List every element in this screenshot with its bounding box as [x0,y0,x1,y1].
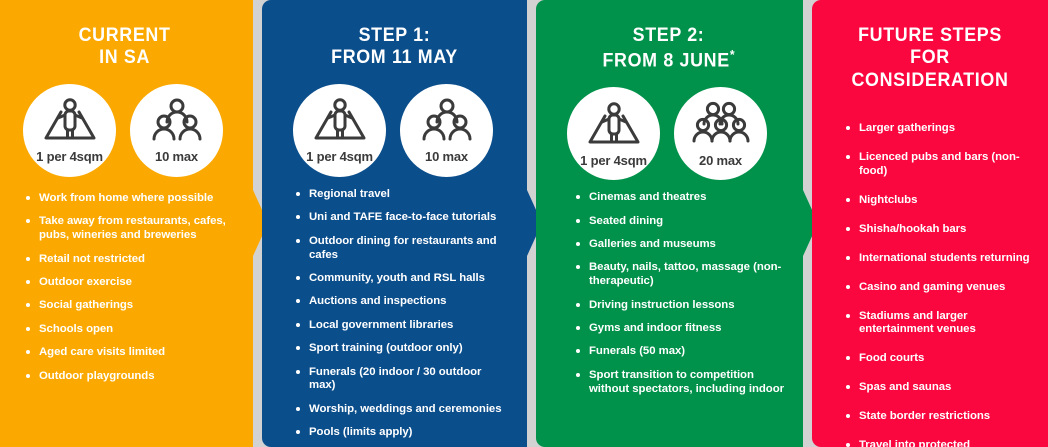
heading-line-1: STEP 2: [633,25,705,46]
list-item: Beauty, nails, tattoo, massage (non-ther… [574,261,784,289]
panel-step-2-icons: 1 per 4sqm [536,87,818,180]
list-item: Food courts [844,352,1036,366]
person-in-area-icon [584,100,644,150]
person-in-area-icon [310,96,370,146]
list-item: Seated dining [574,215,784,229]
list-item: Sport transition to competition without … [574,369,784,397]
list-item: Spas and saunas [844,381,1036,395]
icon-badge-density: 1 per 4sqm [23,84,116,177]
list-item: Funerals (20 indoor / 30 outdoor max) [294,366,508,394]
heading-line-2: FROM 8 JUNE [602,51,729,72]
icon-badge-density: 1 per 4sqm [293,84,386,177]
list-item: Gyms and indoor fitness [574,322,784,336]
heading-line-1: STEP 1: [359,25,431,46]
panel-current: CURRENT IN SA [0,0,268,447]
panel-future-steps-list-wrap: Larger gatherings Licenced pubs and bars… [812,92,1048,447]
panel-step-1: STEP 1: FROM 11 MAY [262,0,542,447]
list-item: Take away from restaurants, cafes, pubs,… [24,215,234,243]
panel-step-2-list: Cinemas and theatres Seated dining Galle… [574,191,784,397]
list-item: Community, youth and RSL halls [294,272,508,286]
list-item: Aged care visits limited [24,346,234,360]
list-item: Uni and TAFE face-to-face tutorials [294,211,508,225]
three-people-icon [149,96,205,146]
icon-caption: 1 per 4sqm [36,149,103,164]
list-item: Outdoor playgrounds [24,370,234,384]
list-item: Shisha/hookah bars [844,223,1036,237]
panel-step-1-heading: STEP 1: FROM 11 MAY [270,0,533,70]
covid-restrictions-roadmap: CURRENT IN SA [0,0,1048,447]
list-item: International students returning [844,252,1036,266]
list-item: Sport training (outdoor only) [294,342,508,356]
icon-badge-density: 1 per 4sqm [567,87,660,180]
heading-asterisk: * [730,47,735,62]
icon-badge-group: 10 max [400,84,493,177]
person-in-area-icon [40,96,100,146]
list-item: Social gatherings [24,299,234,313]
panel-current-list: Work from home where possible Take away … [24,192,234,384]
five-people-icon [690,100,752,150]
list-item: Outdoor dining for restaurants and cafes [294,235,508,263]
panel-current-list-wrap: Work from home where possible Take away … [0,177,268,384]
panel-current-heading: CURRENT IN SA [8,0,260,70]
list-item: Regional travel [294,188,508,202]
panel-future-steps-list: Larger gatherings Licenced pubs and bars… [844,122,1036,447]
heading-line-2: FOR CONSIDERATION [851,47,1008,90]
icon-caption: 1 per 4sqm [306,149,373,164]
icon-caption: 1 per 4sqm [580,153,647,168]
list-item: Stadiums and larger entertainment venues [844,310,1036,338]
panel-step-2: STEP 2: FROM 8 JUNE* [536,0,818,447]
icon-caption: 10 max [425,149,468,164]
list-item: Funerals (50 max) [574,345,784,359]
panel-step-2-heading: STEP 2: FROM 8 JUNE* [544,0,809,73]
list-item: Casino and gaming venues [844,281,1036,295]
list-item: Pools (limits apply) [294,426,508,440]
list-item: Schools open [24,323,234,337]
panel-step-2-list-wrap: Cinemas and theatres Seated dining Galle… [536,180,818,397]
list-item: Galleries and museums [574,238,784,252]
icon-caption: 10 max [155,149,198,164]
panel-current-icons: 1 per 4sqm [0,84,268,177]
list-item: Retail not restricted [24,253,234,267]
list-item: Auctions and inspections [294,295,508,309]
panel-future-steps: FUTURE STEPS FOR CONSIDERATION Larger ga… [812,0,1048,447]
heading-line-2: FROM 11 MAY [331,47,458,68]
icon-caption: 20 max [699,153,742,168]
list-item: Local government libraries [294,319,508,333]
list-item: Outdoor exercise [24,276,234,290]
icon-badge-group: 10 max [130,84,223,177]
list-item: Cinemas and theatres [574,191,784,205]
list-item: Worship, weddings and ceremonies [294,403,508,417]
panel-step-1-icons: 1 per 4sqm [262,84,542,177]
panel-step-1-list: Regional travel Uni and TAFE face-to-fac… [294,188,508,447]
panel-future-steps-heading: FUTURE STEPS FOR CONSIDERATION [819,0,1041,92]
list-item: Work from home where possible [24,192,234,206]
list-item: Travel into protected communities [844,439,1036,447]
list-item: Licenced pubs and bars (non-food) [844,151,1036,179]
list-item: Driving instruction lessons [574,299,784,313]
icon-badge-group: 20 max [674,87,767,180]
heading-line-1: CURRENT [79,25,171,46]
three-people-icon [419,96,475,146]
list-item: Larger gatherings [844,122,1036,136]
list-item: State border restrictions [844,410,1036,424]
heading-line-2: IN SA [99,47,150,68]
panel-step-1-list-wrap: Regional travel Uni and TAFE face-to-fac… [262,177,542,447]
heading-line-1: FUTURE STEPS [858,25,1002,46]
list-item: Nightclubs [844,194,1036,208]
